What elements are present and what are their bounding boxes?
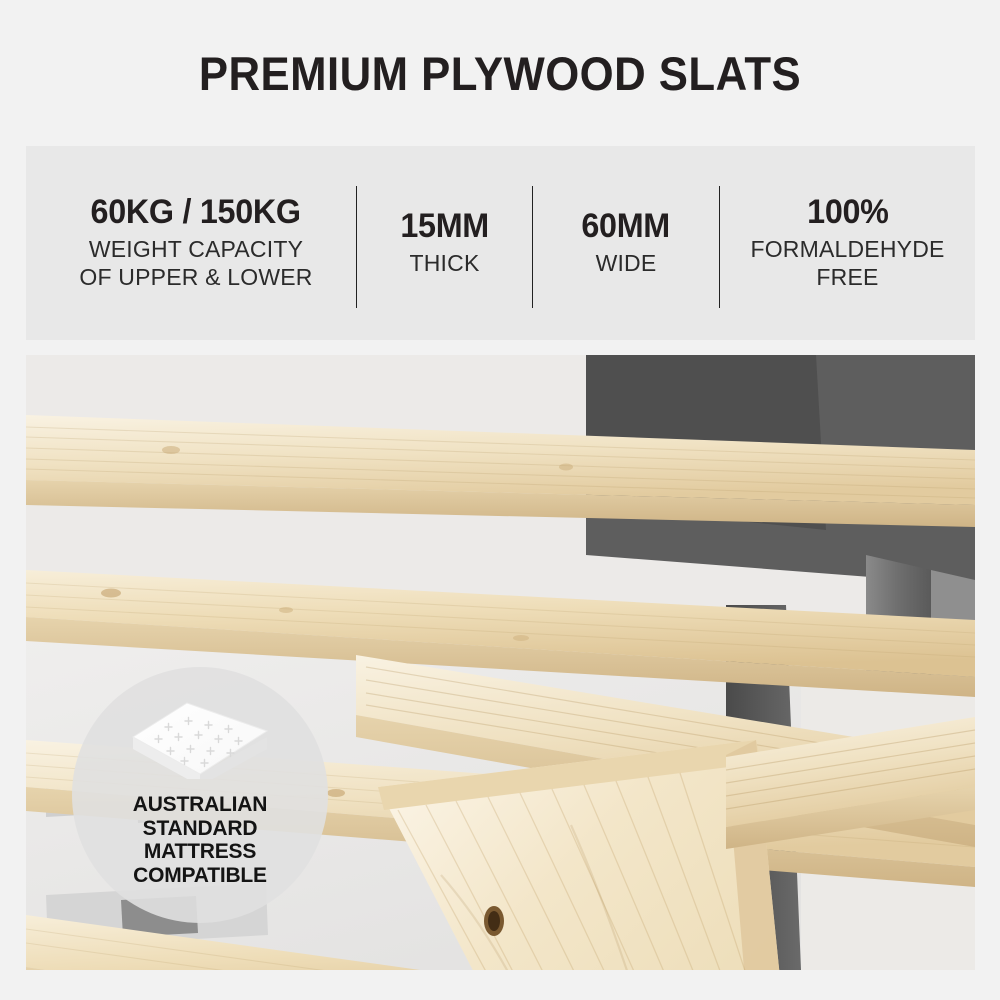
spec-description-line: WEIGHT CAPACITY bbox=[79, 235, 312, 263]
mattress-compatible-badge: AUSTRALIAN STANDARD MATTRESS COMPATIBLE bbox=[72, 667, 328, 923]
spec-item-weight-capacity: 60KG / 150KG WEIGHT CAPACITY OF UPPER & … bbox=[36, 146, 356, 340]
spec-description-line: FREE bbox=[750, 263, 944, 291]
page-title: PREMIUM PLYWOOD SLATS bbox=[35, 46, 965, 101]
spec-description-line: THICK bbox=[410, 249, 480, 277]
spec-description-line: WIDE bbox=[596, 249, 657, 277]
spec-value: 60MM bbox=[582, 209, 671, 245]
spec-description: WEIGHT CAPACITY OF UPPER & LOWER bbox=[79, 235, 312, 291]
spec-value: 15MM bbox=[400, 209, 489, 245]
infographic-page: PREMIUM PLYWOOD SLATS 60KG / 150KG WEIGH… bbox=[0, 0, 1000, 1000]
badge-text-line: COMPATIBLE bbox=[133, 864, 268, 888]
spec-description: FORMALDEHYDE FREE bbox=[750, 235, 944, 291]
spec-description-line: OF UPPER & LOWER bbox=[79, 263, 312, 291]
spec-item-width: 60MM WIDE bbox=[533, 146, 719, 340]
spec-value: 100% bbox=[807, 195, 888, 231]
badge-text: AUSTRALIAN STANDARD MATTRESS COMPATIBLE bbox=[133, 793, 268, 888]
spec-item-formaldehyde-free: 100% FORMALDEHYDE FREE bbox=[720, 146, 975, 340]
badge-text-line: AUSTRALIAN bbox=[133, 793, 268, 817]
badge-text-line: STANDARD bbox=[133, 817, 268, 841]
spec-panel: 60KG / 150KG WEIGHT CAPACITY OF UPPER & … bbox=[26, 146, 975, 340]
spec-value: 60KG / 150KG bbox=[91, 195, 301, 231]
spec-description: THICK bbox=[410, 249, 480, 277]
badge-text-line: MATTRESS bbox=[133, 840, 268, 864]
spec-description: WIDE bbox=[596, 249, 657, 277]
spec-item-thickness: 15MM THICK bbox=[357, 146, 532, 340]
spec-description-line: FORMALDEHYDE bbox=[750, 235, 944, 263]
mattress-icon bbox=[125, 691, 275, 779]
